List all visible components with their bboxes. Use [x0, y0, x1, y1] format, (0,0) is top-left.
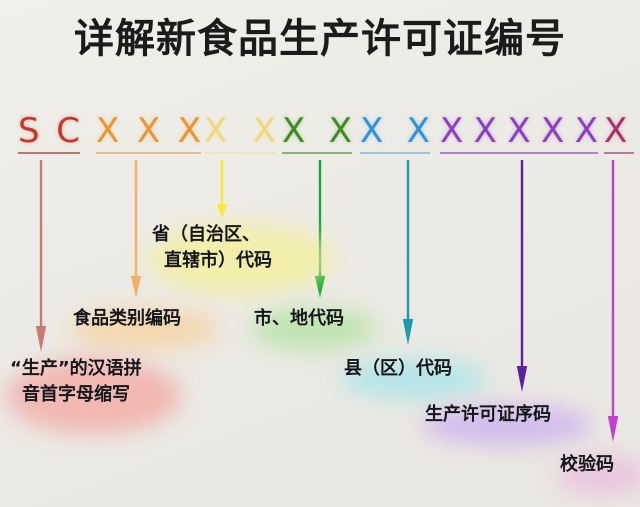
code-char: X — [575, 112, 598, 150]
code-char: X — [474, 112, 497, 150]
arrow-head — [608, 416, 618, 442]
code-char: X — [507, 112, 530, 150]
code-char: X — [541, 112, 564, 150]
label-line: 直辖市）代码 — [152, 248, 272, 274]
arrow-head — [403, 319, 413, 345]
label-city: 市、地代码 — [254, 306, 344, 332]
code-group-province: XX — [204, 112, 276, 160]
code-group-underline — [440, 152, 598, 154]
code-char: C — [56, 112, 80, 150]
code-group-checkcode: X — [604, 112, 634, 160]
label-county: 县（区）代码 — [344, 356, 452, 382]
label-category: 食品类别编码 — [73, 306, 181, 332]
license-code-row: SCXXXXXXXXXXXXXXX — [0, 112, 640, 160]
arrow-county — [400, 160, 416, 345]
code-char: X — [282, 112, 305, 150]
code-char: X — [329, 112, 352, 150]
arrow-sc — [33, 160, 49, 352]
label-province: 省（自治区、直辖市）代码 — [152, 222, 272, 274]
label-checkcode: 校验码 — [560, 452, 614, 478]
code-char: X — [253, 112, 276, 150]
arrow-sequence — [514, 160, 530, 392]
arrow-shaft — [40, 160, 42, 338]
arrow-shaft — [612, 160, 614, 428]
label-sc: “生产”的汉语拼音首字母缩写 — [10, 356, 142, 408]
code-group-underline — [204, 152, 276, 154]
arrow-shaft — [319, 160, 321, 286]
label-line: 音首字母缩写 — [10, 382, 142, 408]
code-group-category: XXX — [96, 112, 201, 160]
arrow-head — [315, 276, 325, 298]
arrow-shaft — [521, 160, 523, 378]
code-group-county: XX — [360, 112, 430, 160]
code-char: X — [204, 112, 227, 150]
label-line: 食品类别编码 — [73, 306, 181, 332]
code-group-underline — [18, 152, 80, 154]
code-group-sequence: XXXXX — [440, 112, 598, 160]
arrow-city — [312, 160, 328, 298]
code-char: X — [96, 112, 119, 150]
arrow-province — [214, 160, 230, 218]
label-line: 校验码 — [560, 452, 614, 478]
arrow-head — [36, 326, 46, 352]
code-group-city: XX — [282, 112, 352, 160]
arrow-category — [128, 160, 144, 298]
code-group-underline — [96, 152, 201, 154]
code-char: X — [360, 112, 383, 150]
arrow-shaft — [135, 160, 137, 286]
label-line: 生产许可证序码 — [425, 402, 551, 428]
code-char: X — [604, 112, 627, 150]
label-line: 县（区）代码 — [344, 356, 452, 382]
arrow-head — [217, 204, 227, 218]
code-char: X — [440, 112, 463, 150]
code-char: X — [178, 112, 201, 150]
label-sequence: 生产许可证序码 — [425, 402, 551, 428]
label-line: “生产”的汉语拼 — [10, 356, 142, 382]
code-char: S — [18, 112, 40, 150]
arrow-checkcode — [605, 160, 621, 442]
infographic-canvas: 详解新食品生产许可证编号 SCXXXXXXXXXXXXXXX 省（自治区、直辖市… — [0, 0, 640, 507]
arrow-shaft — [221, 160, 223, 210]
code-group-underline — [360, 152, 430, 154]
arrow-head — [517, 366, 527, 392]
arrow-head — [131, 276, 141, 298]
code-char: X — [407, 112, 430, 150]
page-title: 详解新食品生产许可证编号 — [0, 6, 640, 64]
label-line: 省（自治区、 — [152, 222, 272, 248]
code-group-underline — [282, 152, 352, 154]
code-group-underline — [604, 152, 634, 154]
code-group-sc: SC — [18, 112, 80, 160]
code-char: X — [137, 112, 160, 150]
arrow-shaft — [407, 160, 409, 331]
label-line: 市、地代码 — [254, 306, 344, 332]
